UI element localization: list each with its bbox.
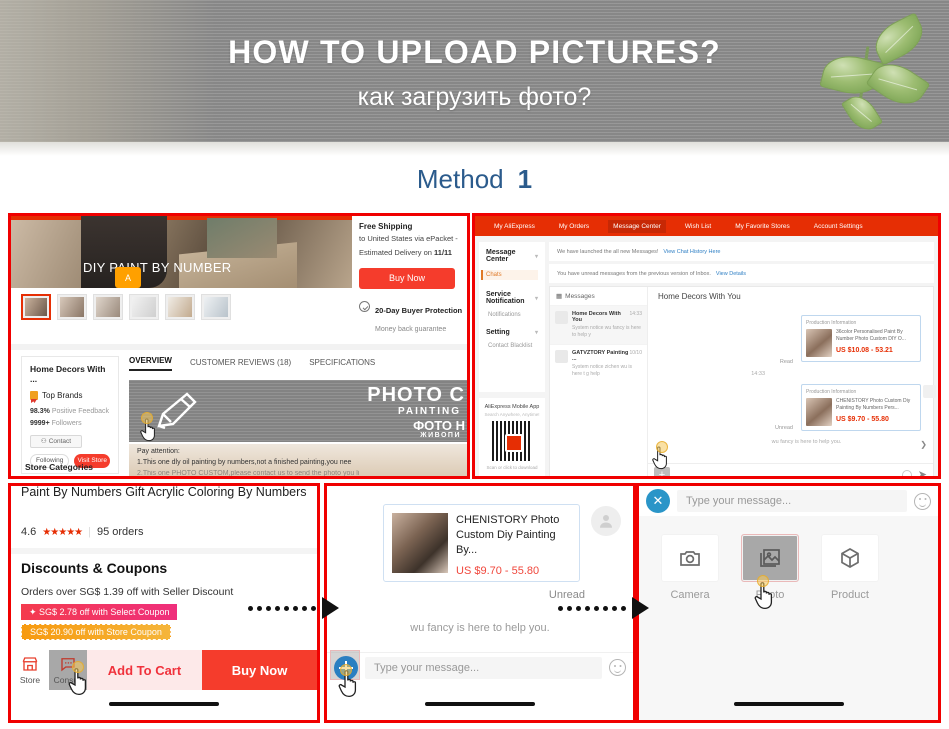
sidebar-item-chats[interactable]: Chats xyxy=(481,270,538,280)
chat-card-price: US $9.70 - 55.80 xyxy=(456,565,571,577)
notice-text: We have launched the all new Messages! xyxy=(557,249,658,255)
mobile-app-title: AliExpress Mobile App xyxy=(484,404,540,410)
select-coupon-badge[interactable]: ✦ SG$ 2.78 off with Select Coupon xyxy=(21,604,177,620)
product-thumbnail[interactable] xyxy=(201,294,231,320)
feedback-label: Positive Feedback xyxy=(52,408,109,415)
conversation-list: ▦ Messages Home Decors With You 14:33 Sy… xyxy=(550,287,648,479)
sidebar-item-contact-blacklist[interactable]: Contact Blacklist xyxy=(486,343,538,349)
smiley-icon[interactable] xyxy=(914,493,931,510)
nav-my-orders[interactable]: My Orders xyxy=(554,220,594,233)
sidebar-heading-setting: Setting ▾ xyxy=(486,329,538,336)
thread-title: Home Decors With You xyxy=(648,287,933,305)
product-thumbnail-strip[interactable] xyxy=(21,294,231,320)
notice-new-messages: We have launched the all new Messages! V… xyxy=(549,242,934,261)
hero-easel-shape xyxy=(207,218,277,258)
top-brands-badge: Top Brands xyxy=(30,391,110,400)
avatar xyxy=(555,311,568,324)
store-categories-label[interactable]: Store Categories xyxy=(25,462,93,472)
product-purchase-box: Free Shipping to United States via ePack… xyxy=(359,222,470,336)
product-thumbnail[interactable] xyxy=(129,294,159,320)
home-indicator xyxy=(425,702,535,706)
flow-arrow-2 xyxy=(558,597,649,619)
leaf-decoration-icon xyxy=(815,20,935,142)
account-top-nav: My AliExpress My Orders Message Center W… xyxy=(475,216,938,236)
attach-option-photo[interactable]: Photo xyxy=(741,534,799,601)
banner-bottom-fade xyxy=(0,142,949,156)
store-coupon-badge[interactable]: SG$ 20.90 off with Store Coupon xyxy=(21,624,171,640)
scroll-down-icon[interactable]: ❯ xyxy=(920,440,927,449)
contact-label: Contact xyxy=(49,438,71,445)
divider: | xyxy=(88,526,91,538)
pay-attention-line-1: 1.This one dly oil painting by numbers,n… xyxy=(137,459,465,466)
sidebar-heading-label: Service Notification xyxy=(486,291,535,305)
smiley-icon[interactable] xyxy=(902,470,912,480)
message-input[interactable]: Type your message... xyxy=(677,490,907,512)
conversation-list-header: ▦ Messages xyxy=(550,287,647,305)
buy-now-button[interactable]: Buy Now xyxy=(359,268,455,289)
notice-link[interactable]: View Details xyxy=(716,271,746,277)
product-thumbnail xyxy=(806,398,832,426)
message-timestamp: 14:33 xyxy=(751,371,765,377)
message-center-sidebar: Message Center ▾ Chats Service Notificat… xyxy=(479,242,545,392)
screenshot-mobile-attach: ✕ Type your message... Camera Photo xyxy=(636,483,941,723)
banner-title: HOW TO UPLOAD PICTURES? xyxy=(0,34,949,71)
mobile-rating-row: 4.6 ★★★★★ | 95 orders xyxy=(21,526,143,538)
chevron-down-icon[interactable]: ▾ xyxy=(535,295,538,302)
store-name: Home Decors With ... xyxy=(30,364,110,384)
buy-now-button[interactable]: Buy Now xyxy=(202,650,317,690)
plus-icon[interactable]: + xyxy=(654,467,670,480)
product-thumbnail xyxy=(806,329,832,357)
messages-header-label: Messages xyxy=(565,293,595,300)
helper-text: wu fancy is here to help you. xyxy=(327,622,633,634)
rating-value: 4.6 xyxy=(21,526,36,538)
section-divider xyxy=(11,344,470,350)
discounts-heading: Discounts & Coupons xyxy=(21,560,167,576)
store-button[interactable]: Store xyxy=(11,650,49,690)
method-label: Method xyxy=(417,164,504,194)
shipping-destination: to United States via ePacket - xyxy=(359,234,470,245)
feedback-value: 98.3% xyxy=(30,408,50,415)
top-brands-label: Top Brands xyxy=(42,391,82,400)
read-status: Read xyxy=(780,359,793,365)
conversation-time: 14:33 xyxy=(629,311,642,323)
click-ring-indicator xyxy=(656,441,668,453)
seller-discount-text: Orders over SG$ 1.39 off with Seller Dis… xyxy=(21,586,233,598)
avatar xyxy=(555,350,568,363)
followers-label: Followers xyxy=(52,420,82,427)
tab-customer-reviews[interactable]: CUSTOMER REVIEWS (18) xyxy=(190,358,291,371)
add-to-cart-button[interactable]: Add To Cart xyxy=(87,650,202,690)
store-info-card: Home Decors With ... Top Brands 98.3% Po… xyxy=(21,356,119,474)
bubble-product-title: 36color Personalised Paint By Number Pho… xyxy=(836,329,916,344)
sidebar-heading-label: Message Center xyxy=(486,249,535,263)
message-input[interactable]: Type your message... xyxy=(365,657,602,679)
method-heading: Method1 xyxy=(0,164,949,195)
camera-icon xyxy=(678,546,702,570)
helper-text: wu fancy is here to help you. xyxy=(680,439,933,445)
product-box-icon xyxy=(838,546,862,570)
chat-input-bar: Type your message... xyxy=(327,652,633,682)
tab-specifications[interactable]: SPECIFICATIONS xyxy=(309,358,375,371)
attachment-options: Camera Photo Product xyxy=(661,534,879,601)
conversation-name: GATVZTORY Painting ... xyxy=(572,350,629,362)
free-shipping-label: Free Shipping xyxy=(359,222,470,231)
pay-attention-heading: Pay attention: xyxy=(137,448,465,455)
unread-status: Unread xyxy=(775,425,793,431)
mobile-app-footer: Scan or click to download xyxy=(484,465,540,470)
banner-line-3: ФОТО Н xyxy=(413,418,465,433)
store-icon xyxy=(21,655,39,673)
screenshot-product-page: DIY PAINT BY NUMBER Free Shipping to Uni… xyxy=(8,213,470,479)
close-icon[interactable]: ✕ xyxy=(646,489,670,513)
site-header-strip xyxy=(11,216,352,220)
product-thumbnail[interactable] xyxy=(93,294,123,320)
smiley-icon[interactable] xyxy=(609,659,626,676)
sidebar-heading-label: Setting xyxy=(486,329,510,336)
photo-label: Photo xyxy=(741,589,799,601)
click-ring-indicator xyxy=(340,664,352,676)
conversation-row[interactable]: GATVZTORY Painting ... 10/10 System noti… xyxy=(550,344,647,383)
product-detail-tabs: OVERVIEW CUSTOMER REVIEWS (18) SPECIFICA… xyxy=(129,356,375,371)
camera-label: Camera xyxy=(661,589,719,601)
store-label: Store xyxy=(20,675,40,685)
photo-custom-banner: PHOTO C PAINTING ФОТО Н ЖИВОПИ xyxy=(129,380,470,442)
pencil-icon xyxy=(153,388,205,434)
hero-caption: DIY PAINT BY NUMBER xyxy=(83,260,232,275)
chat-bubble-icon: ⚇ xyxy=(41,437,47,445)
click-ring-indicator xyxy=(757,575,769,587)
qr-code-icon[interactable] xyxy=(492,421,532,461)
product-hero-image: DIY PAINT BY NUMBER xyxy=(11,216,352,288)
notice-unread-inbox: You have unread messages from the previo… xyxy=(549,264,934,283)
chat-container: ▦ Messages Home Decors With You 14:33 Sy… xyxy=(549,286,934,479)
bubble-header: Production Information xyxy=(806,389,916,395)
product-thumbnail[interactable] xyxy=(57,294,87,320)
camera-tile[interactable] xyxy=(661,534,719,582)
mobile-product-title: Paint By Numbers Gift Acrylic Coloring B… xyxy=(21,483,311,501)
consult-label: Consult xyxy=(54,675,83,685)
eta-date: 11/11 xyxy=(434,248,452,257)
product-thumbnail[interactable] xyxy=(165,294,195,320)
photo-tile[interactable] xyxy=(741,534,799,582)
conversation-preview: System notice zichen wu is here t g help xyxy=(572,364,642,378)
chat-card-title: CHENISTORY Photo Custom Diy Painting By.… xyxy=(456,513,571,558)
screenshot-message-center: My AliExpress My Orders Message Center W… xyxy=(472,213,941,479)
chat-input-bar: ✕ Type your message... xyxy=(639,486,938,516)
message-center-body: Message Center ▾ Chats Service Notificat… xyxy=(475,236,938,476)
send-icon[interactable]: ➤ xyxy=(918,468,927,479)
pay-attention-line-2: 2.This one PHOTO CUSTOM,please contact u… xyxy=(137,470,465,477)
banner-line-1: PHOTO C xyxy=(367,384,465,407)
contact-seller-button[interactable]: ⚇ Contact xyxy=(30,435,82,448)
buyer-protection: 20-Day Buyer Protection Money back guara… xyxy=(359,300,470,336)
notice-link[interactable]: View Chat History Here xyxy=(663,249,720,255)
followers-value: 9999+ xyxy=(30,420,50,427)
conversation-preview: System notice wu fancy is here to help y xyxy=(572,325,642,339)
messages-icon: ▦ xyxy=(556,292,562,300)
nav-wish-list[interactable]: Wish List xyxy=(680,220,716,233)
banner-line-4: ЖИВОПИ xyxy=(420,432,461,439)
pay-attention-block: Pay attention: 1.This one dly oil painti… xyxy=(129,444,470,479)
attach-option-camera[interactable]: Camera xyxy=(661,534,719,601)
bubble-product-title: CHENISTORY Photo Custom Diy Painting By … xyxy=(836,398,916,413)
store-stats: 98.3% Positive Feedback 9999+ Followers xyxy=(30,406,110,430)
nav-message-center[interactable]: Message Center xyxy=(608,220,666,233)
product-thumbnail[interactable] xyxy=(21,294,51,320)
nav-account-settings[interactable]: Account Settings xyxy=(809,220,868,233)
product-card-bubble[interactable]: Production Information CHENISTORY Photo … xyxy=(801,384,921,431)
add-to-cart-button[interactable]: A xyxy=(115,267,141,288)
mobile-app-subtitle: Search Anywhere, Anytime! xyxy=(484,412,540,417)
protection-subtitle: Money back guarantee xyxy=(375,326,446,333)
click-ring-indicator xyxy=(72,661,84,673)
banner-line-2: PAINTING xyxy=(398,406,461,417)
star-rating-icon: ★★★★★ xyxy=(42,527,82,538)
header-banner: HOW TO UPLOAD PICTURES? как загрузить фо… xyxy=(0,0,949,142)
banner-subtitle: как загрузить фото? xyxy=(0,83,949,112)
avatar xyxy=(923,385,936,398)
sidebar-heading-message-center: Message Center ▾ xyxy=(486,249,538,263)
mobile-app-promo-card: AliExpress Mobile App Search Anywhere, A… xyxy=(479,398,545,479)
notice-text: You have unread messages from the previo… xyxy=(557,271,711,277)
conversation-time: 10/10 xyxy=(629,350,642,362)
bubble-price: US $9.70 - 55.80 xyxy=(836,416,916,423)
chevron-down-icon[interactable]: ▾ xyxy=(535,329,538,336)
conversation-name: Home Decors With You xyxy=(572,311,629,323)
attach-option-product[interactable]: Product xyxy=(821,534,879,601)
chat-product-card[interactable]: CHENISTORY Photo Custom Diy Painting By.… xyxy=(383,504,580,582)
bubble-header: Production Information xyxy=(806,320,916,326)
tab-overview[interactable]: OVERVIEW xyxy=(129,356,172,371)
click-ring-indicator xyxy=(141,412,153,424)
chevron-down-icon[interactable]: ▾ xyxy=(535,253,538,260)
user-avatar-icon xyxy=(591,506,621,536)
orders-count: 95 orders xyxy=(97,526,143,538)
bubble-price: US $10.08 - 53.21 xyxy=(836,347,916,354)
nav-my-aliexpress[interactable]: My AliExpress xyxy=(489,220,540,233)
photo-icon xyxy=(758,546,782,570)
message-input[interactable] xyxy=(676,468,896,480)
flow-arrow-1 xyxy=(248,597,339,619)
mobile-action-bar: Store Consult Add To Cart Buy Now xyxy=(11,650,317,690)
product-card-bubble[interactable]: Production Information 36color Personali… xyxy=(801,315,921,362)
shield-check-icon xyxy=(359,301,370,312)
sidebar-heading-service-notification: Service Notification ▾ xyxy=(486,291,538,305)
protection-title: 20-Day Buyer Protection xyxy=(375,306,462,315)
method-number: 1 xyxy=(518,164,532,194)
home-indicator xyxy=(734,702,844,706)
product-thumbnail xyxy=(392,513,448,573)
conversation-row[interactable]: Home Decors With You 14:33 System notice… xyxy=(550,305,647,344)
chat-input-bar: + ➤ xyxy=(648,463,933,479)
banner-left-gradient xyxy=(0,0,215,142)
section-divider xyxy=(11,548,317,554)
product-label: Product xyxy=(821,589,879,601)
medal-icon xyxy=(30,391,38,400)
home-indicator xyxy=(109,702,219,706)
estimated-delivery: Estimated Delivery on 11/11 xyxy=(359,248,470,259)
product-tile[interactable] xyxy=(821,534,879,582)
nav-my-favorite-stores[interactable]: My Favorite Stores xyxy=(730,220,795,233)
eta-prefix: Estimated Delivery on xyxy=(359,248,434,257)
